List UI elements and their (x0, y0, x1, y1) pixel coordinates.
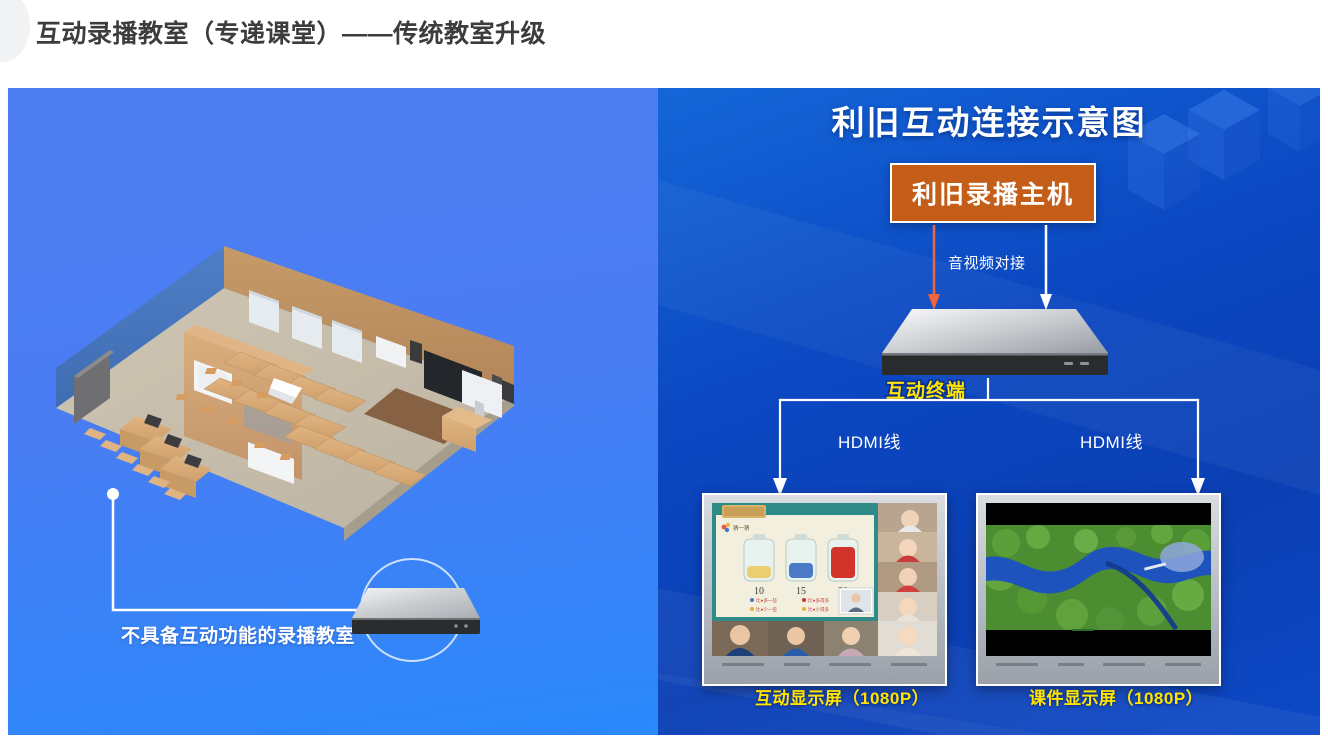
monitor-courseware-display (976, 493, 1221, 686)
monitor-caption-courseware: 课件显示屏（1080P） (1029, 684, 1203, 709)
svg-text:比●少一些: 比●少一些 (756, 606, 778, 613)
page-title: 互动录播教室（专递课堂）——传统教室升级 (36, 14, 546, 50)
svg-text:15: 15 (796, 586, 806, 597)
interactive-class-videoconference: 猜一猜 10 15 (712, 503, 937, 656)
slide-canvas: 互动录播教室（专递课堂）——传统教室升级 (0, 0, 1328, 752)
hdmi-cable-label-left: HDMI线 (838, 428, 901, 453)
recording-host-device (346, 580, 486, 642)
left-panel-caption: 不具备互动功能的录播教室 (121, 621, 355, 648)
monitor-interactive-display: 猜一猜 10 15 (702, 493, 947, 686)
header-band: 互动录播教室（专递课堂）——传统教室升级 (0, 0, 1328, 88)
aerial-river-forest-landscape (986, 503, 1211, 656)
monitor-caption-interactive: 互动显示屏（1080P） (755, 684, 929, 709)
right-panel: 利旧互动连接示意图 利旧录播主机 音视频对接 (658, 88, 1320, 735)
svg-text:10: 10 (754, 586, 764, 597)
left-panel: 不具备互动功能的录播教室 (8, 88, 658, 735)
monitor-chin (712, 660, 937, 668)
monitor-chin (986, 660, 1211, 668)
svg-text:比●少得多: 比●少得多 (808, 606, 830, 613)
svg-text:比●多得多: 比●多得多 (808, 597, 830, 604)
classroom-illustration (44, 228, 554, 558)
corner-decoration (0, 0, 30, 62)
hdmi-cable-label-right: HDMI线 (1080, 428, 1143, 453)
svg-text:猜一猜: 猜一猜 (733, 524, 750, 532)
svg-text:比●多一些: 比●多一些 (756, 597, 778, 604)
